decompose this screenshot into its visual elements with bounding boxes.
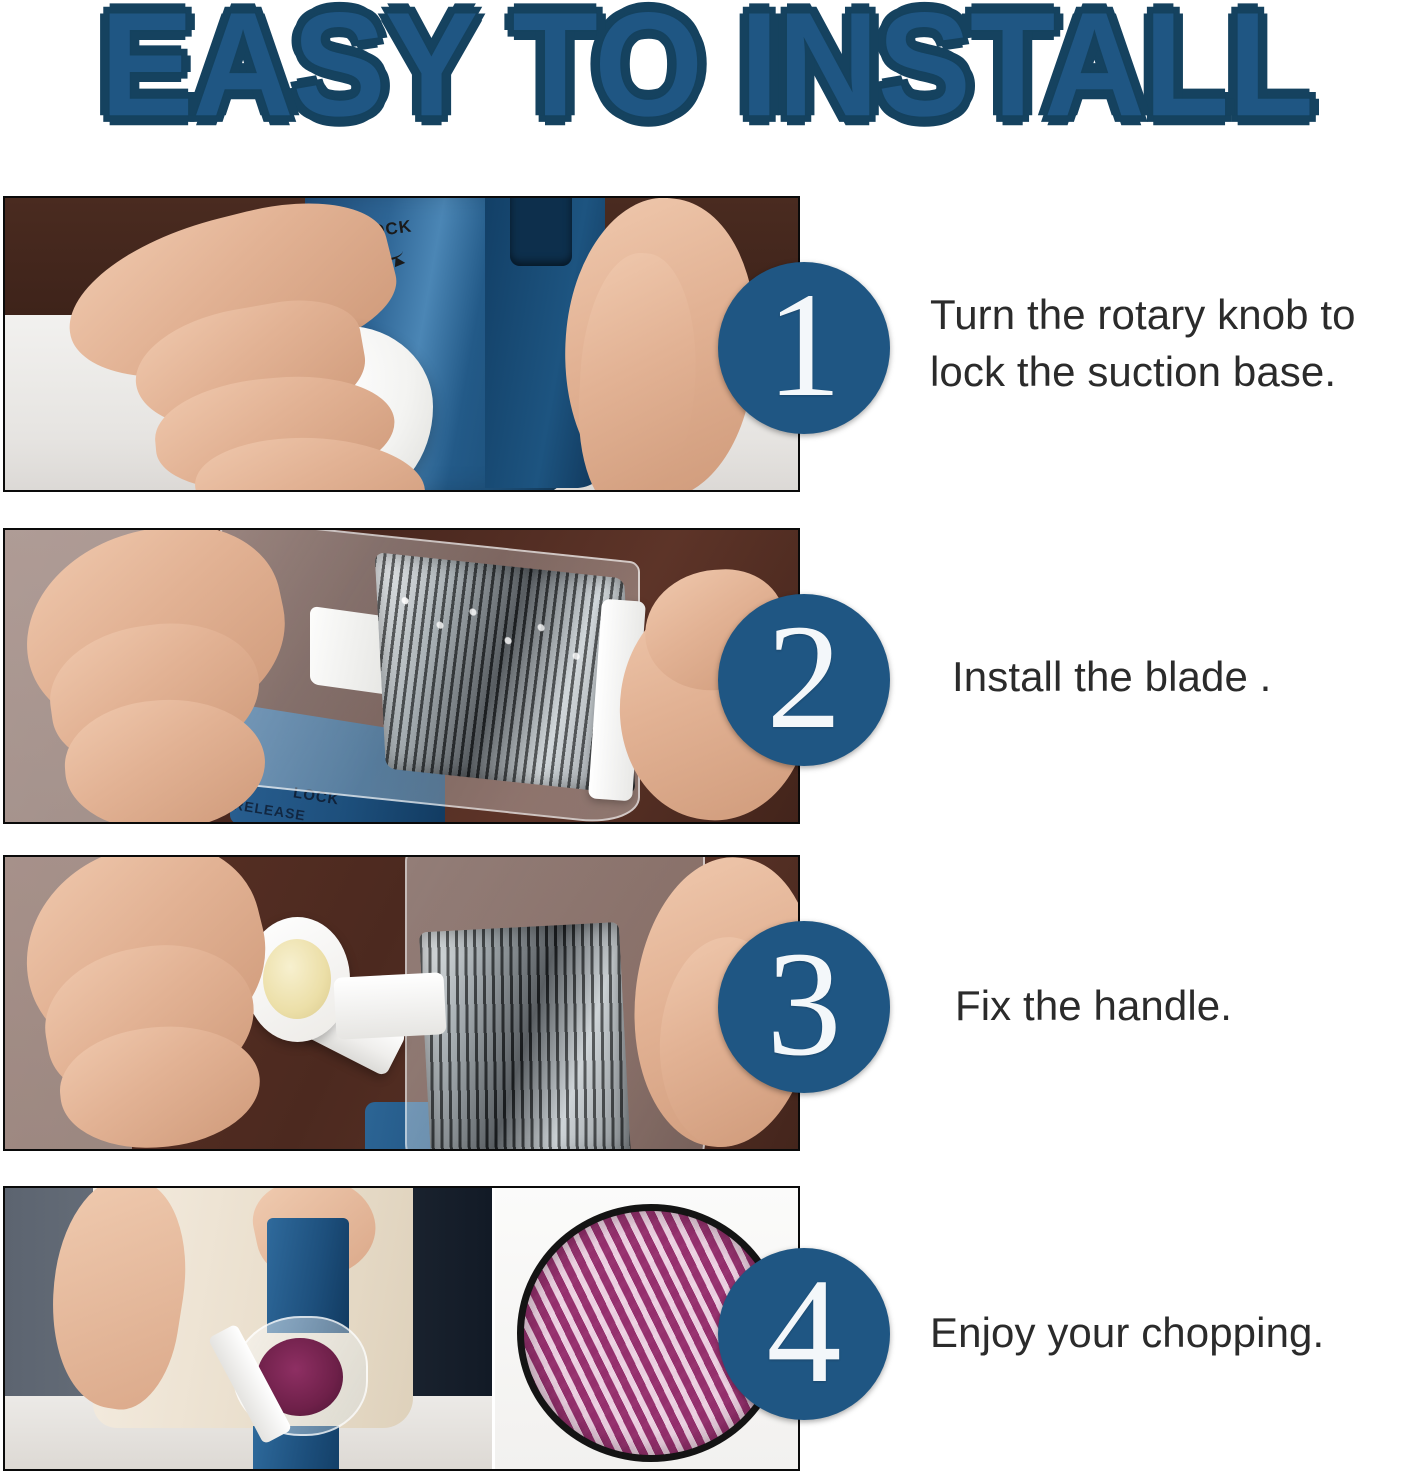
step-badge-4: 4 <box>718 1248 890 1420</box>
photo-4-divider <box>492 1188 495 1469</box>
step-row-4: 4 Enjoy your chopping. <box>0 1186 1413 1471</box>
step-caption-2: Install the blade . <box>952 648 1412 705</box>
photo-3-scene <box>5 857 798 1149</box>
page-title: EASY TO INSTALL <box>0 0 1413 138</box>
step-row-3: 3 Fix the handle. <box>0 855 1413 1151</box>
step-photo-4 <box>3 1186 800 1471</box>
photo-4-left-panel <box>5 1188 492 1469</box>
photo-4-scene <box>5 1188 798 1469</box>
slicer-feed-slot <box>510 196 572 266</box>
step-badge-3: 3 <box>718 921 890 1093</box>
photo-1-scene: LOCK <box>5 198 798 490</box>
step-photo-1: LOCK <box>3 196 800 492</box>
step-row-2: LOCK RELEASE 2 Install the blade . <box>0 528 1413 824</box>
step-number-2: 2 <box>767 602 842 752</box>
step-photo-2: LOCK RELEASE <box>3 528 800 824</box>
step-number-3: 3 <box>767 929 842 1079</box>
step-caption-3: Fix the handle. <box>955 977 1413 1034</box>
step-caption-1: Turn the rotary knob to lock the suction… <box>930 286 1410 400</box>
step-caption-4: Enjoy your chopping. <box>930 1304 1410 1361</box>
step-number-1: 1 <box>767 270 842 420</box>
drum-shaft <box>333 972 446 1040</box>
header-banner: EASY TO INSTALL <box>0 0 1413 150</box>
step-number-4: 4 <box>767 1256 842 1406</box>
step-row-1: LOCK 1 Turn the rotary knob to lock the … <box>0 196 1413 492</box>
photo-2-scene: LOCK RELEASE <box>5 530 798 822</box>
step-photo-3 <box>3 855 800 1151</box>
step-badge-1: 1 <box>718 262 890 434</box>
step-badge-2: 2 <box>718 594 890 766</box>
stainless-blade-drum <box>419 922 631 1151</box>
